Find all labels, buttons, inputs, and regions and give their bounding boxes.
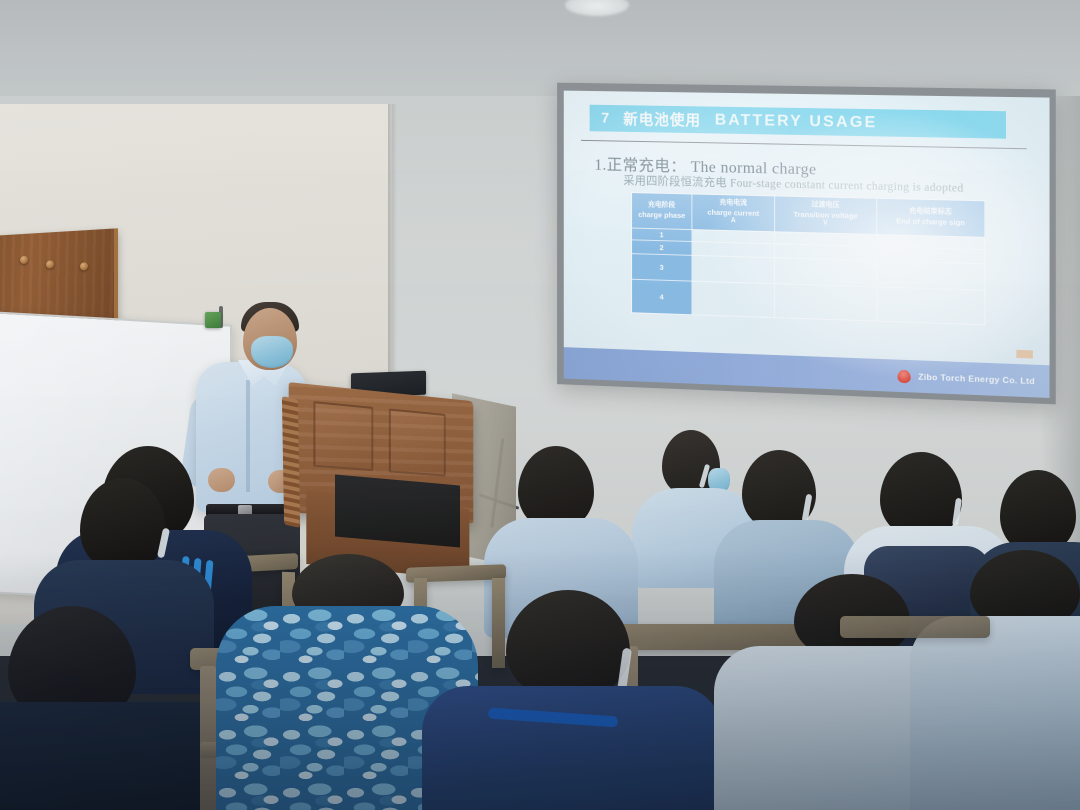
header-unit: A [694,216,772,227]
table-header-charge-phase: 充电阶段 charge phase [632,193,692,230]
ceiling-light-icon [565,0,629,16]
cell-phase: 4 [632,279,692,315]
attendee-head [506,590,630,700]
slide-content: 7 新电池使用 BATTERY USAGE 1.正常充电： The normal… [564,91,1050,398]
attendee-head [80,478,166,572]
lectern-panel-left [313,401,373,471]
lectern-panel-right [389,408,446,476]
cell-voltage [775,258,877,287]
slide-titlebar: 7 新电池使用 BATTERY USAGE [590,105,1006,139]
chair-leg [200,666,216,810]
lectern-ridge-trim [282,396,300,528]
header-en: charge phase [634,210,689,221]
wooden-chair-back [840,616,990,638]
presenter-shirt-placket [246,380,250,492]
company-name: Zibo Torch Energy Co. Ltd [918,371,1035,386]
slide-badge [1016,350,1033,359]
table-header-transition-voltage: 过渡电压 Transition voltage V [775,196,877,234]
company-logo-icon [898,369,911,383]
attendee-a7 [452,590,702,810]
slide-bullet-2-en: Four-stage constant current charging is … [730,177,964,194]
attendee-lightblue-shirt [910,616,1080,810]
dark-monitor [335,475,460,548]
table-header-charge-current: 充电电流 charge current A [692,194,775,232]
slide-title-cn: 新电池使用 [623,108,701,130]
attendee-a10 [930,570,1080,810]
cell-end-sign [876,261,984,291]
cell-end-sign [876,287,984,325]
attendee-a1 [0,606,212,810]
attendee-work-uniform [422,686,722,810]
charge-phase-table: 充电阶段 charge phase 充电电流 charge current A … [631,192,985,325]
green-clip-icon [205,312,221,328]
slide-divider [581,140,1027,149]
slide-number: 7 [601,110,610,127]
header-unit: V [777,219,874,230]
projection-screen: 7 新电池使用 BATTERY USAGE 1.正常充电： The normal… [557,83,1056,405]
classroom-photo: 7 新电池使用 BATTERY USAGE 1.正常充电： The normal… [0,0,1080,810]
header-en: End of charge sign [879,216,982,228]
cell-current [692,255,775,283]
slide-bullet-2-cn: 采用四阶段恒流充电 [623,175,727,189]
cell-phase: 3 [632,254,692,281]
cell-voltage [775,284,877,321]
cell-current [692,281,775,317]
presenter-face-mask [251,336,293,368]
table-header-end-of-charge-sign: 充电结束标志 End of charge sign [876,198,984,237]
slide-title-en: BATTERY USAGE [715,111,878,132]
